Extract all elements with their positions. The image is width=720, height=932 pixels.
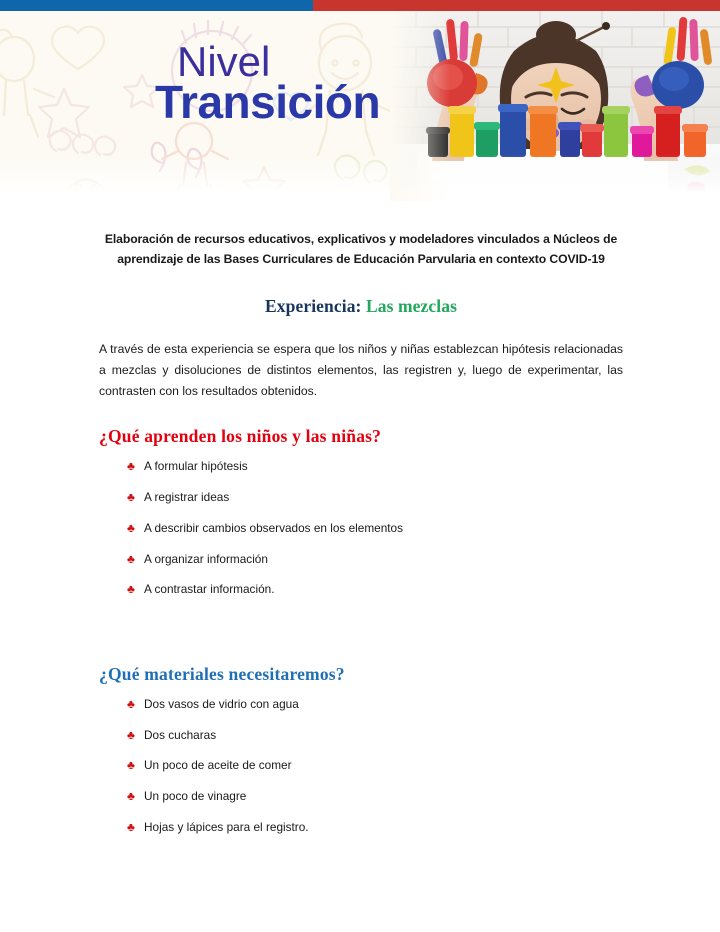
list-item: ♣ Dos vasos de vidrio con agua: [127, 696, 623, 714]
list-item: ♣ A registrar ideas: [127, 489, 623, 507]
list-item-label: A contrastar información.: [144, 581, 623, 599]
list-item-label: A registrar ideas: [144, 489, 623, 507]
list-item: ♣ Un poco de aceite de comer: [127, 757, 623, 775]
section-heading-materials: ¿Qué materiales necesitaremos?: [99, 664, 623, 685]
list-item: ♣ Un poco de vinagre: [127, 788, 623, 806]
club-icon: ♣: [127, 696, 144, 713]
intro-paragraph: A través de esta experiencia se espera q…: [99, 339, 623, 402]
club-icon: ♣: [127, 757, 144, 774]
header-banner: Nivel Transición: [0, 11, 720, 201]
experience-value: Las mezclas: [366, 296, 457, 316]
list-item-label: Un poco de vinagre: [144, 788, 623, 806]
list-item: ♣ A formular hipótesis: [127, 458, 623, 476]
club-icon: ♣: [127, 520, 144, 537]
list-item-label: Dos cucharas: [144, 727, 623, 745]
list-item: ♣ A organizar información: [127, 551, 623, 569]
experience-line: Experiencia: Las mezclas: [99, 296, 623, 317]
club-icon: ♣: [127, 581, 144, 598]
club-icon: ♣: [127, 551, 144, 568]
list-item-label: Hojas y lápices para el registro.: [144, 819, 623, 837]
club-icon: ♣: [127, 458, 144, 475]
list-item: ♣ Hojas y lápices para el registro.: [127, 819, 623, 837]
banner-title-line2: Transición: [155, 79, 415, 125]
document-page: { "topbar": { "left_color": "#1066ab", "…: [0, 0, 720, 932]
list-item-label: A describir cambios observados en los el…: [144, 520, 623, 538]
club-icon: ♣: [127, 788, 144, 805]
section-heading-learning: ¿Qué aprenden los niños y las niñas?: [99, 426, 623, 447]
list-item-label: Un poco de aceite de comer: [144, 757, 623, 775]
experience-label: Experiencia:: [265, 296, 361, 316]
list-item-label: A formular hipótesis: [144, 458, 623, 476]
club-icon: ♣: [127, 489, 144, 506]
top-bar-blue-segment: [0, 0, 313, 11]
document-body: Elaboración de recursos educativos, expl…: [0, 201, 720, 849]
list-item: ♣ A contrastar información.: [127, 581, 623, 599]
top-bar-red-segment: [313, 0, 720, 11]
document-title: Elaboración de recursos educativos, expl…: [99, 230, 623, 270]
photo-left-fade: [390, 11, 450, 201]
content-column: Elaboración de recursos educativos, expl…: [99, 230, 623, 836]
learning-bullet-list: ♣ A formular hipótesis ♣ A registrar ide…: [99, 458, 623, 598]
banner-title: Nivel Transición: [155, 41, 415, 125]
list-item: ♣ A describir cambios observados en los …: [127, 520, 623, 538]
club-icon: ♣: [127, 727, 144, 744]
top-color-bar: [0, 0, 720, 11]
list-item-label: A organizar información: [144, 551, 623, 569]
banner-photo: [390, 11, 720, 201]
club-icon: ♣: [127, 819, 144, 836]
list-item: ♣ Dos cucharas: [127, 727, 623, 745]
list-item-label: Dos vasos de vidrio con agua: [144, 696, 623, 714]
section-spacer: [99, 612, 623, 639]
materials-bullet-list: ♣ Dos vasos de vidrio con agua ♣ Dos cuc…: [99, 696, 623, 836]
